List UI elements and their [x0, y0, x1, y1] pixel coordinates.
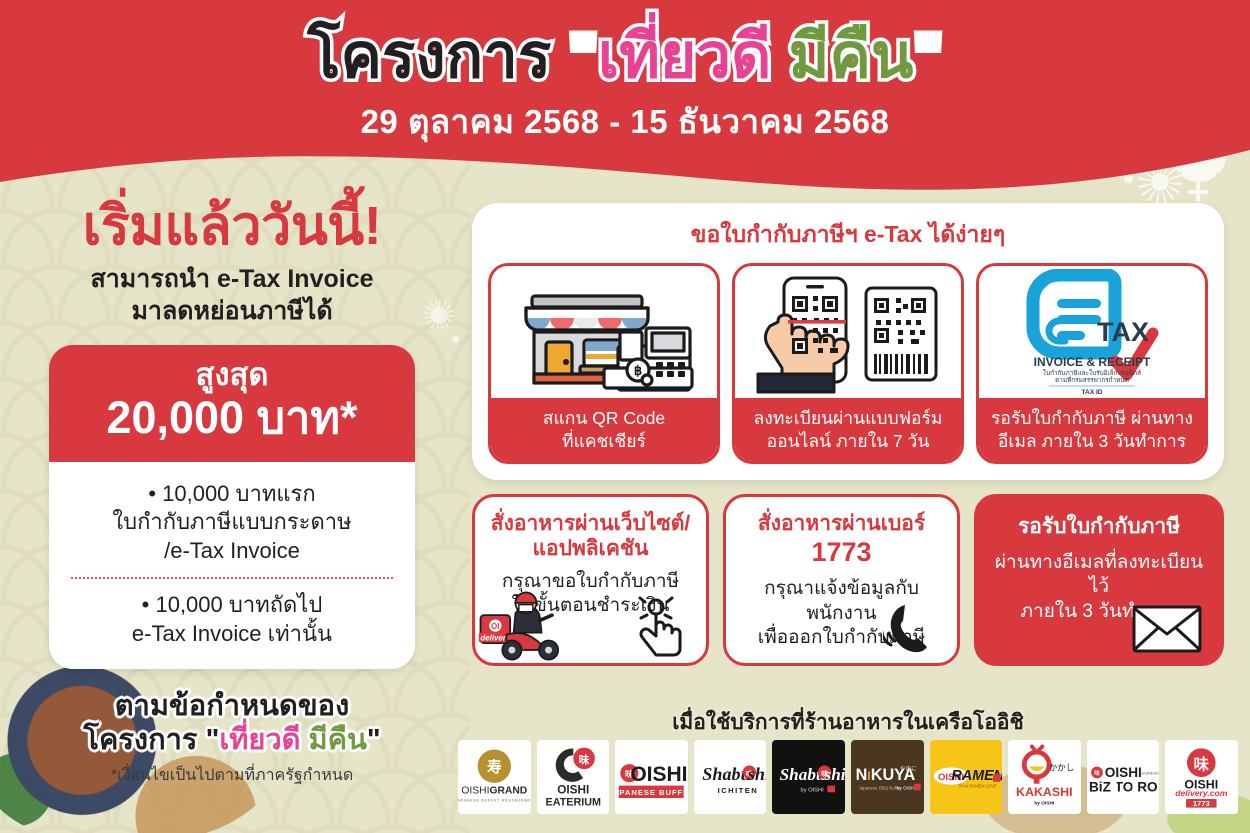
tap-hand-icon — [634, 595, 690, 657]
channel-2-heading: สั่งอาหารผ่านเบอร์ 1773 — [738, 511, 945, 570]
ordering-channels-row: สั่งอาหารผ่านเว็บไซต์/ แอปพลิเคชัน กรุณา… — [472, 494, 1224, 667]
subheadline-line-1: สามารถนำ e-Tax Invoice — [32, 263, 432, 295]
ringing-phone-icon — [883, 599, 943, 653]
step-1-caption-line-1: สแกน QR Code — [494, 407, 714, 430]
etax-wordmark: TAX — [1097, 317, 1149, 347]
etax-steps-list: ฿ สแกน QR Code ที่แคชเชียร์ — [488, 263, 1208, 464]
terms-quote-open: " — [206, 724, 220, 756]
max-amount-card: สูงสุด 20,000 บาท* • 10,000 บาทแรก ใบกำก… — [49, 345, 415, 669]
header-banner: โครงการ "เที่ยวดี มีคืน" 29 ตุลาคม 2568 … — [0, 0, 1250, 200]
etax-line-1: INVOICE & RECEIPT — [1034, 355, 1151, 369]
step-2-caption-line-2: ออนไลน์ ภายใน 7 วัน — [738, 430, 958, 453]
partner-logos-row: 寿 OISHIGRAND JAPANESE BUFFET RESTAURANT … — [458, 740, 1238, 814]
dot-decoration-icon — [452, 336, 459, 343]
channel-1-heading: สั่งอาหารผ่านเว็บไซต์/ แอปพลิเคชัน — [487, 511, 694, 562]
logo-nikuya-by-oishi: NIKUYA や肉に Japanese BBQ Buffet by OISHI — [851, 740, 924, 814]
svg-text:OISHI: OISHI — [1105, 765, 1142, 780]
bullet-1-line-3: /e-Tax Invoice — [65, 537, 399, 566]
svg-text:寿: 寿 — [487, 758, 502, 776]
title-quote-close: " — [913, 22, 942, 91]
logo-oishi-grand: 寿 OISHIGRAND JAPANESE BUFFET RESTAURANT — [458, 740, 531, 814]
logo-shabushi-ichiten: Shabu 味 shi ICHITEN — [694, 740, 767, 814]
svg-text:by OISHI: by OISHI — [1035, 801, 1055, 807]
terms-green-word: มีคืน — [309, 724, 367, 756]
svg-text:OISHI: OISHI — [631, 763, 688, 786]
start-today-headline: เริ่มแล้ววันนี้! — [32, 198, 432, 255]
poster-canvas: โครงการ "เที่ยวดี มีคืน" 29 ตุลาคม 2568 … — [0, 0, 1250, 833]
title-quote-open: " — [569, 22, 598, 91]
hand-phone-qr-scan-icon — [735, 266, 961, 398]
max-amount-header: สูงสุด 20,000 บาท* — [49, 345, 415, 462]
svg-text:OISHIGRAND: OISHIGRAND — [461, 786, 527, 797]
svg-text:JAPANESE BUFFET RESTAURANT: JAPANESE BUFFET RESTAURANT — [458, 798, 531, 803]
terms-footnote: *เงื่อนไขเป็นไปตามที่ภาครัฐกำหนด — [32, 763, 432, 788]
step-card-receive-email: TAX INVOICE & RECEIPT ใบกำกับภาษีและใบรั… — [976, 263, 1208, 464]
channel-card-website-app: สั่งอาหารผ่านเว็บไซต์/ แอปพลิเคชัน กรุณา… — [472, 494, 709, 667]
svg-text:味: 味 — [1094, 769, 1100, 777]
bullet-item-second-tier: • 10,000 บาทถัดไป e-Tax Invoice เท่านั้น — [65, 591, 399, 648]
step-caption-register-online: ลงทะเบียนผ่านแบบฟอร์ม ออนไลน์ ภายใน 7 วั… — [732, 398, 964, 464]
bullet-item-first-tier: • 10,000 บาทแรก ใบกำกับภาษีแบบกระดาษ /e-… — [65, 480, 399, 566]
step-card-register-online: ลงทะเบียนผ่านแบบฟอร์ม ออนไลน์ ภายใน 7 วั… — [732, 263, 964, 464]
max-amount-details: • 10,000 บาทแรก ใบกำกับภาษีแบบกระดาษ /e-… — [49, 462, 415, 669]
channel-1-heading-line-2: แอปพลิเคชัน — [487, 536, 694, 562]
svg-text:delivery.com: delivery.com — [1176, 788, 1229, 798]
storefront-cashier-icon: ฿ — [491, 266, 717, 398]
svg-text:BUSINESS: BUSINESS — [1138, 770, 1158, 775]
etax-steps-panel: ขอใบกำกับภาษีฯ e-Tax ได้ง่ายๆ — [472, 203, 1224, 480]
bullet-2-line-1: • 10,000 บาทถัดไป — [65, 591, 399, 620]
partner-restaurants-heading: เมื่อใช้บริการที่ร้านอาหารในเครือโออิชิ — [472, 706, 1224, 739]
svg-text:味: 味 — [578, 753, 589, 766]
svg-text:EATERIUM: EATERIUM — [545, 796, 601, 808]
title-part-1: โครงการ — [307, 22, 551, 91]
svg-text:OISHI: OISHI — [557, 784, 589, 797]
svg-text:JAPANESE BUFFET: JAPANESE BUFFET — [615, 788, 688, 797]
channel-3-body-line-1: ผ่านทางอีเมลที่ลงทะเบียนไว้ — [986, 551, 1212, 600]
svg-text:shi: shi — [824, 765, 845, 784]
right-column: ขอใบกำกับภาษีฯ e-Tax ได้ง่ายๆ — [472, 203, 1224, 666]
max-amount-label: สูงสุด — [59, 359, 405, 392]
step-3-caption-line-2: อีเมล ภายใน 3 วันทำการ — [982, 430, 1202, 453]
etax-steps-panel-title: ขอใบกำกับภาษีฯ e-Tax ได้ง่ายๆ — [488, 217, 1208, 253]
step-caption-receive-email: รอรับใบกำกับภาษี ผ่านทาง อีเมล ภายใน 3 ว… — [976, 398, 1208, 464]
channel-card-phone-1773: สั่งอาหารผ่านเบอร์ 1773 กรุณาแจ้งข้อมูลก… — [723, 494, 960, 667]
channel-card-email-receipt: รอรับใบกำกับภาษี ผ่านทางอีเมลที่ลงทะเบีย… — [974, 494, 1224, 667]
terms-prefix: โครงการ — [83, 724, 197, 756]
svg-text:by OISHI: by OISHI — [801, 787, 825, 793]
terms-quote-close: " — [367, 724, 381, 756]
terms-pink-word: เที่ยวดี — [219, 724, 300, 756]
step-3-caption-line-1: รอรับใบกำกับภาษี ผ่านทาง — [982, 407, 1202, 430]
channel-1-heading-line-1: สั่งอาหารผ่านเว็บไซต์/ — [487, 511, 694, 537]
svg-text:ICHITEN: ICHITEN — [717, 786, 758, 795]
svg-text:฿: ฿ — [634, 363, 642, 378]
etax-tax-id-label: TAX ID — [1081, 389, 1102, 395]
logo-oishi-ramen: OISHI RAMEN THAI RAMEN LOVE — [930, 740, 1003, 814]
title-green-word: มีคืน — [789, 22, 914, 91]
terms-heading: ตามข้อกำหนดของ โครงการ "เที่ยวดี มีคืน" — [32, 689, 432, 757]
envelope-icon — [1132, 604, 1202, 654]
svg-text:Japanese BBQ Buffet: Japanese BBQ Buffet — [859, 785, 902, 790]
logo-oishi-eaterium: 味 OISHI EATERIUM — [537, 740, 610, 814]
svg-text:shi: shi — [747, 764, 767, 784]
channel-3-heading: รอรับใบกำกับภาษี — [986, 510, 1212, 543]
svg-text:味: 味 — [1194, 755, 1210, 773]
svg-text:OI: OI — [491, 622, 499, 631]
page-title: โครงการ "เที่ยวดี มีคืน" — [0, 22, 1250, 91]
channel-2-heading-line-1: สั่งอาหารผ่านเบอร์ — [738, 511, 945, 537]
etax-line-3: ตามที่กรมสรรพากรกำหนด — [1055, 375, 1129, 384]
subheadline-line-2: มาลดหย่อนภาษีได้ — [32, 295, 432, 327]
logo-oishi-delivery: 味 OISHI delivery.com 1773 — [1165, 740, 1238, 814]
delivery-scooter-icon: OI delivery — [477, 583, 573, 663]
title-pink-word: เที่ยวดี — [598, 22, 771, 91]
etax-invoice-receipt-logo: TAX INVOICE & RECEIPT ใบกำกับภาษีและใบรั… — [979, 266, 1205, 398]
left-column: เริ่มแล้ววันนี้! สามารถนำ e-Tax Invoice … — [32, 198, 432, 788]
svg-text:や肉に: や肉に — [900, 764, 917, 772]
channel-2-heading-phone-number: 1773 — [738, 536, 945, 569]
step-2-caption-line-1: ลงทะเบียนผ่านแบบฟอร์ม — [738, 407, 958, 430]
bullet-2-line-2: e-Tax Invoice เท่านั้น — [65, 620, 399, 649]
subheadline: สามารถนำ e-Tax Invoice มาลดหย่อนภาษีได้ — [32, 263, 432, 327]
step-card-scan-qr: ฿ สแกน QR Code ที่แคชเชียร์ — [488, 263, 720, 464]
svg-text:KAKASHI: KAKASHI — [1016, 785, 1073, 799]
terms-line-2: โครงการ "เที่ยวดี มีคืน" — [32, 723, 432, 757]
svg-text:THAI RAMEN LOVE: THAI RAMEN LOVE — [958, 784, 996, 789]
logo-oishi-japanese-buffet: 味 OISHI JAPANESE BUFFET — [615, 740, 688, 814]
step-caption-scan-qr: สแกน QR Code ที่แคชเชียร์ — [488, 398, 720, 464]
logo-oishi-biztoro: 味 OISHI BUSINESS BiZ|TO|RO — [1087, 740, 1160, 814]
svg-text:BiZ|TO|RO: BiZ|TO|RO — [1089, 780, 1158, 795]
bullet-1-line-1: • 10,000 บาทแรก — [65, 480, 399, 509]
logo-kakashi-by-oishi: かかし KAKASHI by OISHI — [1008, 740, 1081, 814]
bullet-1-line-2: ใบกำกับภาษีแบบกระดาษ — [65, 508, 399, 537]
svg-text:by OISHI: by OISHI — [897, 785, 916, 791]
dotted-divider — [71, 577, 393, 579]
max-amount-value: 20,000 บาท* — [59, 393, 405, 443]
step-1-caption-line-2: ที่แคชเชียร์ — [494, 430, 714, 453]
terms-line-1: ตามข้อกำหนดของ — [32, 689, 432, 723]
etax-line-2: ใบกำกับภาษีและใบรับอิเล็กทรอนิกส์ — [1043, 368, 1141, 377]
svg-text:1773: 1773 — [1193, 799, 1210, 808]
svg-text:かかし: かかし — [1049, 762, 1075, 772]
logo-shabushi-by-oishi: Shabu 味 shi by OISHI — [772, 740, 845, 814]
campaign-date-range: 29 ตุลาคม 2568 - 15 ธันวาคม 2568 — [0, 95, 1250, 148]
